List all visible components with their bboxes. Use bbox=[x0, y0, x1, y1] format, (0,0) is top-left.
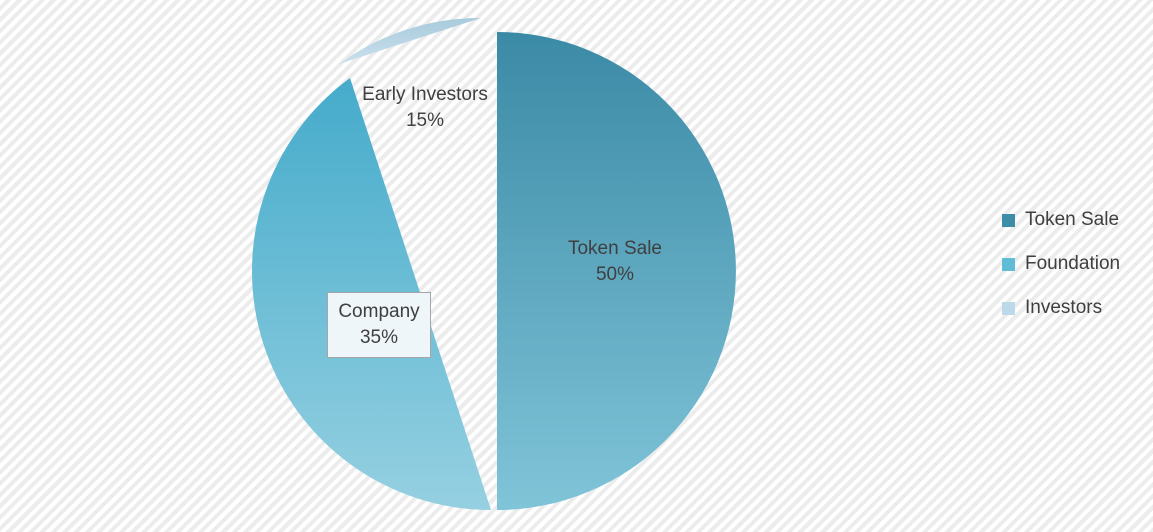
pie-slice-early-investors[interactable] bbox=[339, 18, 481, 64]
pie-plot-area bbox=[0, 0, 960, 532]
pie-slice-token-sale[interactable] bbox=[497, 32, 736, 510]
pie-slice-company[interactable] bbox=[252, 78, 491, 510]
legend-item-token-sale[interactable]: Token Sale bbox=[1002, 198, 1153, 242]
legend-item-foundation[interactable]: Foundation bbox=[1002, 242, 1153, 286]
legend-item-label: Investors bbox=[1025, 297, 1102, 319]
chart-legend: Token Sale Foundation Investors bbox=[1002, 198, 1153, 330]
legend-item-label: Foundation bbox=[1025, 253, 1120, 275]
legend-item-investors[interactable]: Investors bbox=[1002, 286, 1153, 330]
legend-swatch-icon bbox=[1002, 302, 1015, 315]
legend-item-label: Token Sale bbox=[1025, 209, 1119, 231]
legend-swatch-icon bbox=[1002, 258, 1015, 271]
pie-chart: Token Sale 50% Early Investors 15% Compa… bbox=[0, 0, 1153, 532]
legend-swatch-icon bbox=[1002, 214, 1015, 227]
pie-svg bbox=[0, 0, 960, 532]
